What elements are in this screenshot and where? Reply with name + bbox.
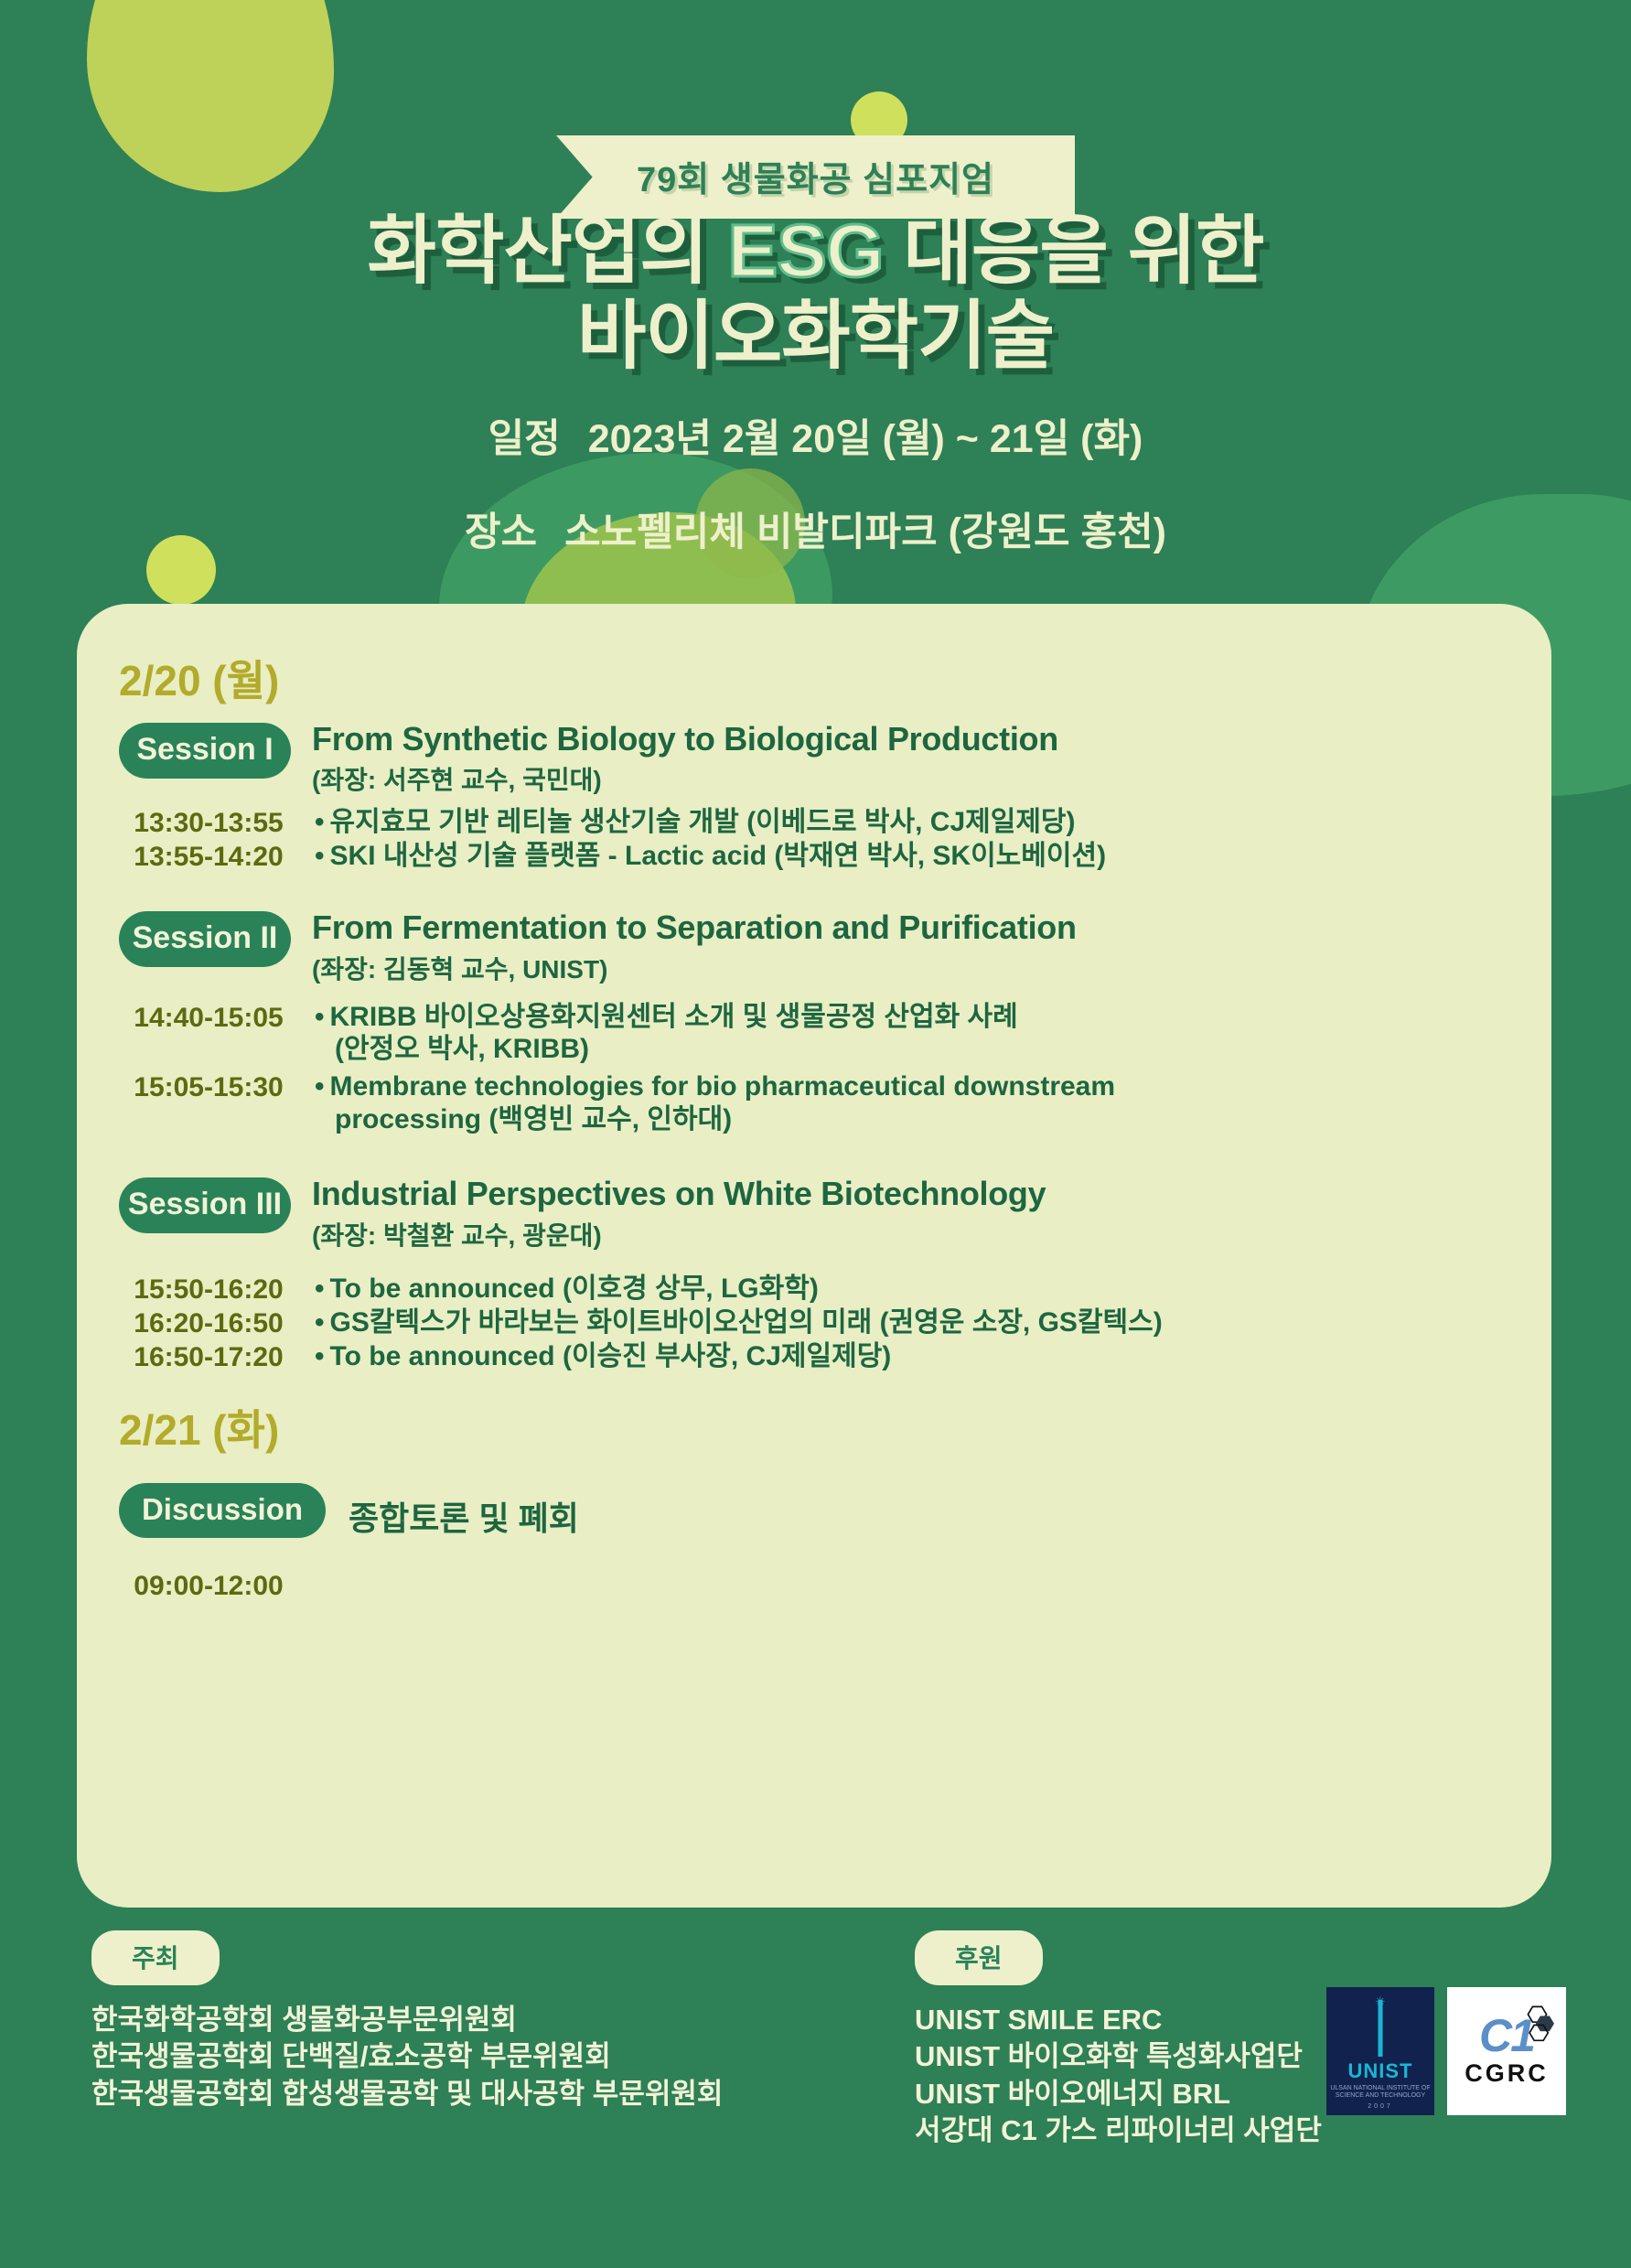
session-title: From Fermentation to Separation and Puri… bbox=[312, 909, 1077, 946]
host-column: 주최 한국화학공학회 생물화공부문위원회 한국생물공학회 단백질/효소공학 부문… bbox=[91, 1930, 723, 2112]
item-time: 16:20-16:50 bbox=[119, 1306, 298, 1339]
item-desc-text: To be announced (이호경 상무, LG화학) bbox=[330, 1274, 819, 1304]
session-items: 15:50-16:20 •To be announced (이호경 상무, LG… bbox=[119, 1273, 1551, 1373]
title-line-1: 화학산업의 ESG 대응을 위한 bbox=[0, 209, 1631, 294]
unist-logo-sub: ULSAN NATIONAL INSTITUTE OF SCIENCE AND … bbox=[1326, 2085, 1434, 2101]
item-desc: •To be announced (이승진 부사장, CJ제일제당) bbox=[315, 1340, 891, 1372]
unist-logo-name: UNIST bbox=[1348, 2061, 1413, 2081]
cgrc-logo: C1 CGRC bbox=[1447, 1987, 1566, 2115]
discussion-text: 종합토론 및 폐회 bbox=[349, 1492, 579, 1540]
schedule-item: 14:40-15:05 •KRIBB 바이오상용화지원센터 소개 및 생물공정 … bbox=[119, 1001, 1551, 1066]
title-line-1-pre: 화학산업의 bbox=[368, 210, 728, 293]
session-items: 14:40-15:05 •KRIBB 바이오상용화지원센터 소개 및 생물공정 … bbox=[119, 1001, 1551, 1136]
item-desc: •유지효모 기반 레티놀 생산기술 개발 (이베드로 박사, CJ제일제당) bbox=[315, 806, 1076, 838]
hexagon-icon bbox=[1520, 2004, 1559, 2042]
discussion-pill: Discussion bbox=[119, 1483, 326, 1538]
item-time: 16:50-17:20 bbox=[119, 1340, 298, 1373]
discussion-time: 09:00-12:00 bbox=[119, 1571, 298, 1602]
title-line-2: 바이오화학기술 bbox=[0, 294, 1631, 379]
host-org: 한국생물공학회 합성생물공학 및 대사공학 부문위원회 bbox=[91, 2076, 723, 2112]
bullet-icon: • bbox=[315, 807, 325, 837]
item-desc-text: KRIBB 바이오상용화지원센터 소개 및 생물공정 산업화 사례 bbox=[330, 1002, 1018, 1032]
schedule-item: 16:20-16:50 •GS칼텍스가 바라보는 화이트바이오산업의 미래 (권… bbox=[119, 1306, 1551, 1339]
event-date-row: 일정2023년 2월 20일 (월) ~ 21일 (화) bbox=[0, 407, 1631, 464]
item-desc: •KRIBB 바이오상용화지원센터 소개 및 생물공정 산업화 사례(안정오 박… bbox=[315, 1001, 1018, 1066]
day2-label: 2/21 (화) bbox=[119, 1397, 1551, 1457]
item-time: 13:30-13:55 bbox=[119, 806, 298, 839]
session-chair: (좌장: 김동혁 교수, UNIST) bbox=[312, 950, 1077, 986]
bullet-icon: • bbox=[315, 1274, 325, 1304]
event-info: 일정2023년 2월 20일 (월) ~ 21일 (화) 장소소노펠리체 비발디… bbox=[0, 407, 1631, 594]
sponsor-logos: ✳ UNIST ULSAN NATIONAL INSTITUTE OF SCIE… bbox=[1326, 1987, 1566, 2115]
sponsor-column: 후원 UNIST SMILE ERC UNIST 바이오화학 특성화사업단 UN… bbox=[915, 1930, 1322, 2149]
unist-logo-year: 2007 bbox=[1368, 2103, 1393, 2110]
schedule-item: 15:50-16:20 •To be announced (이호경 상무, LG… bbox=[119, 1273, 1551, 1306]
event-venue-row: 장소소노펠리체 비발디파크 (강원도 홍천) bbox=[0, 500, 1631, 557]
session-header: Session I From Synthetic Biology to Biol… bbox=[119, 721, 1551, 797]
session-title: Industrial Perspectives on White Biotech… bbox=[312, 1176, 1046, 1212]
schedule-card: 2/20 (월) Session I From Synthetic Biolog… bbox=[77, 604, 1551, 1908]
item-time: 14:40-15:05 bbox=[119, 1001, 298, 1034]
session-chair: (좌장: 서주현 교수, 국민대) bbox=[312, 760, 1058, 797]
title-esg-highlight: ESG bbox=[728, 210, 884, 293]
item-desc-text: Membrane technologies for bio pharmaceut… bbox=[330, 1071, 1116, 1102]
title-line-1-post: 대응을 위한 bbox=[884, 210, 1264, 293]
item-desc-cont: processing (백영빈 교수, 인하대) bbox=[335, 1103, 1115, 1135]
ribbon-label: 79회 생물화공 심포지엄 bbox=[637, 161, 994, 199]
host-tag: 주최 bbox=[91, 1930, 220, 1985]
bullet-icon: • bbox=[315, 1071, 325, 1102]
host-org-list: 한국화학공학회 생물화공부문위원회 한국생물공학회 단백질/효소공학 부문위원회… bbox=[91, 2002, 723, 2112]
sponsor-org: UNIST 바이오에너지 BRL bbox=[915, 2076, 1322, 2112]
page-title: 화학산업의 ESG 대응을 위한 바이오화학기술 bbox=[0, 209, 1631, 380]
schedule-item: 13:55-14:20 •SKI 내산성 기술 플랫폼 - Lactic aci… bbox=[119, 840, 1551, 873]
date-label: 일정 bbox=[488, 417, 561, 461]
item-time: 15:05-15:30 bbox=[119, 1070, 298, 1103]
ribbon-shape: 79회 생물화공 심포지엄 bbox=[556, 135, 1075, 219]
host-org: 한국화학공학회 생물화공부문위원회 bbox=[91, 2002, 723, 2038]
session-header: Session II From Fermentation to Separati… bbox=[119, 909, 1551, 985]
item-desc-cont: (안정오 박사, KRIBB) bbox=[335, 1033, 1018, 1065]
session-items: 13:30-13:55 •유지효모 기반 레티놀 생산기술 개발 (이베드로 박… bbox=[119, 806, 1551, 873]
item-desc-text: SKI 내산성 기술 플랫폼 - Lactic acid (박재연 박사, SK… bbox=[330, 841, 1107, 871]
venue-value: 소노펠리체 비발디파크 (강원도 홍천) bbox=[564, 511, 1166, 554]
venue-label: 장소 bbox=[465, 511, 537, 554]
discussion-header: Discussion 종합토론 및 폐회 bbox=[119, 1481, 1551, 1540]
cgrc-logo-name: CGRC bbox=[1465, 2059, 1549, 2088]
session-pill: Session III bbox=[119, 1177, 291, 1233]
session-pill: Session II bbox=[119, 911, 291, 967]
date-value: 2023년 2월 20일 (월) ~ 21일 (화) bbox=[588, 417, 1143, 461]
session-chair: (좌장: 박철환 교수, 광운대) bbox=[312, 1216, 1046, 1252]
item-desc: •Membrane technologies for bio pharmaceu… bbox=[315, 1070, 1115, 1135]
mast-icon bbox=[1379, 2000, 1383, 2057]
bullet-icon: • bbox=[315, 1341, 325, 1371]
schedule-item: 15:05-15:30 •Membrane technologies for b… bbox=[119, 1070, 1551, 1135]
session-title: From Synthetic Biology to Biological Pro… bbox=[312, 721, 1058, 758]
item-desc-text: 유지효모 기반 레티놀 생산기술 개발 (이베드로 박사, CJ제일제당) bbox=[330, 807, 1076, 837]
item-desc-text: To be announced (이승진 부사장, CJ제일제당) bbox=[330, 1341, 892, 1371]
host-org: 한국생물공학회 단백질/효소공학 부문위원회 bbox=[91, 2038, 723, 2075]
sponsor-tag: 후원 bbox=[915, 1930, 1043, 1985]
bullet-icon: • bbox=[315, 1002, 325, 1032]
item-desc-text: GS칼텍스가 바라보는 화이트바이오산업의 미래 (권영운 소장, GS칼텍스) bbox=[330, 1307, 1163, 1338]
sponsor-org: UNIST SMILE ERC bbox=[915, 2002, 1322, 2038]
item-desc: •GS칼텍스가 바라보는 화이트바이오산업의 미래 (권영운 소장, GS칼텍스… bbox=[315, 1306, 1163, 1338]
ribbon-banner: 79회 생물화공 심포지엄 bbox=[0, 135, 1631, 219]
bullet-icon: • bbox=[315, 841, 325, 871]
schedule-item: 16:50-17:20 •To be announced (이승진 부사장, C… bbox=[119, 1340, 1551, 1373]
session-header: Session III Industrial Perspectives on W… bbox=[119, 1176, 1551, 1252]
item-desc: •SKI 내산성 기술 플랫폼 - Lactic acid (박재연 박사, S… bbox=[315, 840, 1106, 872]
item-time: 15:50-16:20 bbox=[119, 1273, 298, 1306]
session-pill: Session I bbox=[119, 723, 291, 779]
sponsor-org-list: UNIST SMILE ERC UNIST 바이오화학 특성화사업단 UNIST… bbox=[915, 2002, 1322, 2149]
unist-logo: ✳ UNIST ULSAN NATIONAL INSTITUTE OF SCIE… bbox=[1326, 1987, 1434, 2115]
item-time: 13:55-14:20 bbox=[119, 840, 298, 873]
sponsor-org: UNIST 바이오화학 특성화사업단 bbox=[915, 2038, 1322, 2075]
schedule-item: 13:30-13:55 •유지효모 기반 레티놀 생산기술 개발 (이베드로 박… bbox=[119, 806, 1551, 839]
bullet-icon: • bbox=[315, 1307, 325, 1338]
day1-label: 2/20 (월) bbox=[119, 648, 1551, 708]
sponsor-org: 서강대 C1 가스 리파이너리 사업단 bbox=[915, 2112, 1322, 2149]
item-desc: •To be announced (이호경 상무, LG화학) bbox=[315, 1273, 819, 1305]
